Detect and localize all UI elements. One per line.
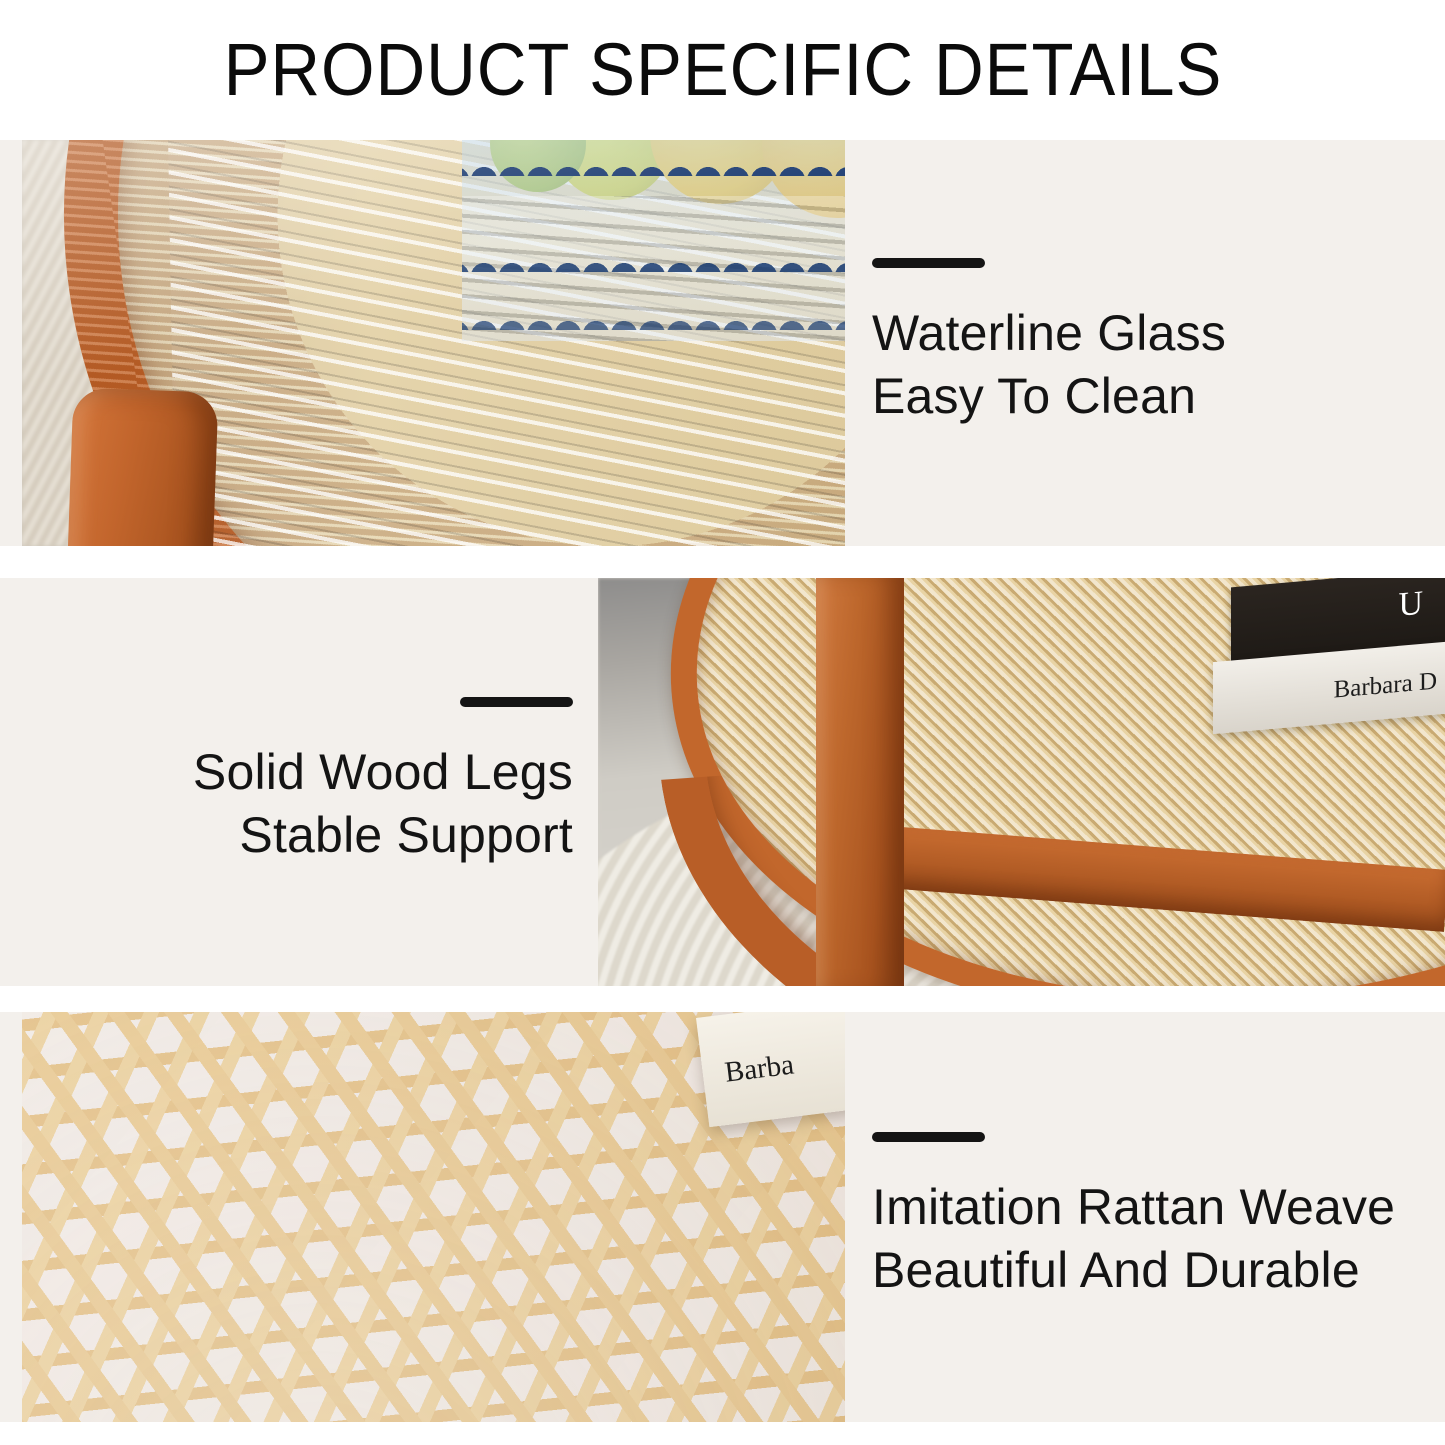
accent-rule-icon bbox=[872, 258, 985, 268]
product-photo-rattan-weave: Barba bbox=[22, 1012, 845, 1422]
glass-reflection-overlay bbox=[22, 140, 845, 546]
product-photo-solid-wood-legs: U Barbara D bbox=[598, 578, 1445, 986]
feature-panel-solid-wood-legs: Solid Wood Legs Stable Support U Barbara… bbox=[0, 578, 1445, 986]
caption-line-2: Easy To Clean bbox=[872, 365, 1196, 428]
accent-rule-icon bbox=[872, 1132, 985, 1142]
book-light-cover: Barba bbox=[696, 1012, 845, 1127]
book-author-name: Barbara D bbox=[1334, 669, 1437, 703]
feature-panel-waterline-glass: Waterline Glass Easy To Clean bbox=[0, 140, 1445, 546]
book-title-letter: U bbox=[1398, 587, 1423, 623]
page-header: PRODUCT SPECIFIC DETAILS bbox=[0, 0, 1445, 140]
solid-wood-leg-post bbox=[816, 578, 904, 986]
book-author-name: Barba bbox=[723, 1051, 795, 1088]
accent-rule-icon bbox=[460, 697, 573, 707]
caption-line-2: Stable Support bbox=[239, 804, 573, 867]
page-title: PRODUCT SPECIFIC DETAILS bbox=[223, 33, 1222, 107]
caption-line-2: Beautiful And Durable bbox=[872, 1239, 1360, 1302]
product-photo-waterline-glass bbox=[22, 140, 845, 546]
photo-scene-glass-top bbox=[22, 140, 845, 546]
caption-line-1: Imitation Rattan Weave bbox=[872, 1176, 1395, 1239]
caption-line-1: Waterline Glass bbox=[872, 302, 1226, 365]
stacked-books: U Barbara D bbox=[1205, 578, 1445, 738]
feature-caption-waterline-glass: Waterline Glass Easy To Clean bbox=[872, 140, 1432, 546]
photo-scene-legs: U Barbara D bbox=[598, 578, 1445, 986]
feature-caption-imitation-rattan-weave: Imitation Rattan Weave Beautiful And Dur… bbox=[872, 1012, 1432, 1422]
feature-caption-solid-wood-legs: Solid Wood Legs Stable Support bbox=[28, 578, 573, 986]
feature-panel-imitation-rattan-weave: Barba Imitation Rattan Weave Beautiful A… bbox=[0, 1012, 1445, 1422]
caption-line-1: Solid Wood Legs bbox=[193, 741, 573, 804]
photo-scene-rattan: Barba bbox=[22, 1012, 845, 1422]
